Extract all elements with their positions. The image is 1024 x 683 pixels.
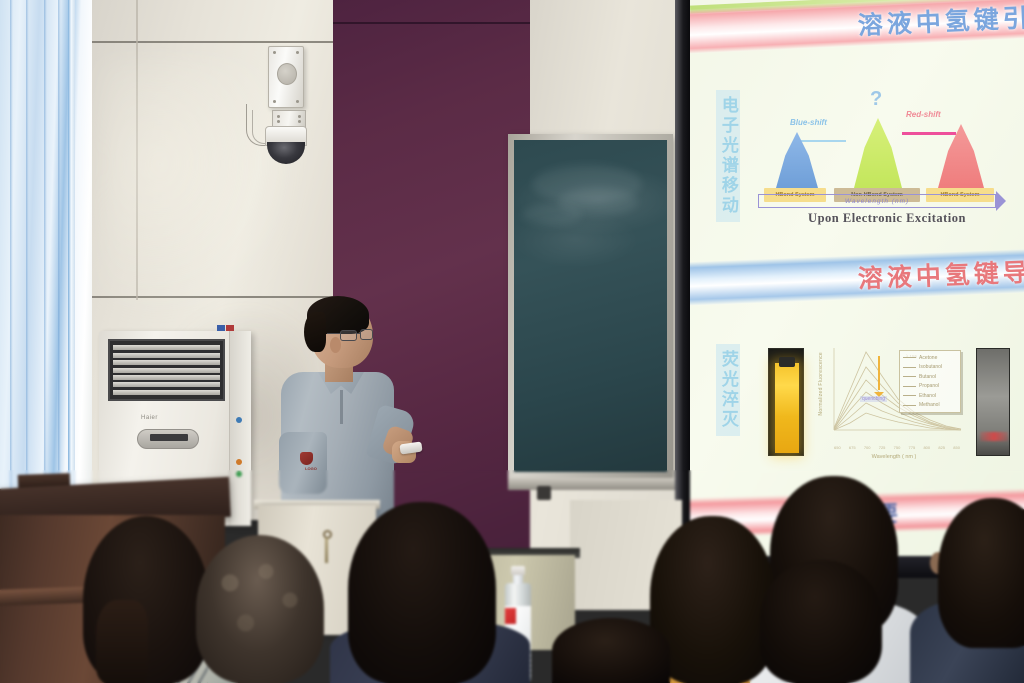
xtick: 725 bbox=[879, 445, 886, 450]
presenter-hair-side bbox=[304, 312, 326, 352]
glasses-temple bbox=[327, 333, 341, 334]
chalk-tray bbox=[508, 478, 676, 490]
legend-item: Methanol bbox=[919, 402, 940, 408]
wavelength-axis-label: Wavelength (nm) bbox=[845, 198, 909, 205]
glasses-lens-left bbox=[340, 330, 357, 341]
wavelength-axis: Wavelength (nm) bbox=[758, 194, 996, 208]
slide-1-banner: 溶液中氢键引 bbox=[690, 0, 1024, 54]
board-clip bbox=[537, 486, 551, 500]
xtick: 700 bbox=[864, 445, 871, 450]
chart-ylabel: Normalized Fluorescence bbox=[818, 352, 824, 416]
screen-frame-left bbox=[675, 0, 690, 570]
camera-conduit-hole bbox=[277, 63, 297, 85]
window-curtain bbox=[0, 0, 95, 520]
legend-item: Acetone bbox=[919, 355, 937, 361]
ac-control-panel[interactable] bbox=[137, 429, 199, 449]
attendee-2-curly-hair bbox=[200, 540, 320, 683]
blue-shift-label: Blue-shift bbox=[790, 118, 827, 127]
xtick: 650 bbox=[834, 445, 841, 450]
slide-2-title: 溶液中氢键导 bbox=[857, 253, 1024, 296]
slide-2-side-label: 荧光淬灭 bbox=[716, 344, 740, 436]
wall-seam bbox=[92, 41, 337, 43]
electronic-spectra-diagram: ? Blue-shift Red-shift HBond System Non-… bbox=[758, 92, 1008, 222]
question-mark-icon: ? bbox=[870, 88, 882, 111]
peak-non-hbond bbox=[854, 118, 902, 188]
presenter-shirt-logo bbox=[300, 452, 313, 465]
projection-screen-surface: 溶液中氢键引 电子光谱移动 ? Blue-shift Red-shift HBo… bbox=[690, 0, 1024, 556]
presenter-placket bbox=[340, 390, 343, 424]
attendee-7-head bbox=[760, 560, 882, 683]
diagram-caption: Upon Electronic Excitation bbox=[762, 211, 1012, 226]
ac-side-column bbox=[229, 331, 251, 526]
ac-brand-label: Haier bbox=[141, 415, 158, 421]
classroom-scene: Haier 溶液中氢键引 电子光谱移动 ? Blue bbox=[0, 0, 1024, 683]
attendee-8-head bbox=[938, 498, 1024, 648]
slide-1-title: 溶液中氢键引 bbox=[857, 0, 1024, 42]
chart-xlabel: Wavelength ( nm ) bbox=[834, 454, 954, 460]
ac-grille bbox=[108, 339, 225, 401]
camera-junction-box bbox=[268, 46, 304, 108]
chart-plot-area: quenching λ 155 Acetone Isobutanol Butan… bbox=[832, 346, 963, 440]
glasses-lens-right bbox=[360, 329, 373, 340]
legend-item: Propanol bbox=[919, 383, 939, 389]
chart-legend: Acetone Isobutanol Butanol Propanol Etha… bbox=[899, 350, 961, 413]
bottle-cap[interactable] bbox=[511, 566, 525, 575]
xtick: 800 bbox=[923, 445, 930, 450]
hanging-keys-icon[interactable] bbox=[322, 530, 332, 564]
xtick: 775 bbox=[909, 445, 916, 450]
chalkboard bbox=[508, 134, 673, 478]
xtick: 675 bbox=[849, 445, 856, 450]
slide-2-banner: 溶液中氢键导 bbox=[690, 249, 1024, 306]
legend-item: Isobutanol bbox=[919, 364, 942, 370]
cuvette-quenched-photo bbox=[976, 348, 1010, 456]
quenching-annotation: quenching bbox=[860, 396, 887, 402]
presenter-shirt-logo-text: LOGO bbox=[296, 466, 326, 471]
fluorescence-spectrum-chart: Normalized Fluorescence quenching λ 155 … bbox=[820, 344, 965, 460]
ac-display bbox=[150, 434, 188, 441]
window-frame bbox=[68, 0, 75, 515]
chalkboard-surface bbox=[514, 140, 667, 472]
slide-1-side-label: 电子光谱移动 bbox=[716, 90, 740, 222]
maroon-wall-seam bbox=[333, 22, 533, 24]
red-shift-label: Red-shift bbox=[906, 110, 941, 119]
xtick: 850 bbox=[953, 445, 960, 450]
attendee-1-ponytail bbox=[96, 600, 148, 683]
legend-item: Ethanol bbox=[919, 393, 936, 399]
chart-xticks: 650 675 700 725 750 775 800 825 850 bbox=[834, 445, 960, 450]
quenching-arrow-icon bbox=[878, 356, 880, 390]
xtick: 750 bbox=[894, 445, 901, 450]
red-shift-arrow-icon bbox=[902, 132, 956, 135]
cuvette-fluorescent-photo bbox=[768, 348, 804, 456]
bottle-label-logo bbox=[505, 608, 516, 624]
attendee-3-head bbox=[348, 502, 496, 683]
attendee-4-head bbox=[552, 618, 670, 683]
xtick: 825 bbox=[938, 445, 945, 450]
legend-item: Butanol bbox=[919, 374, 936, 380]
